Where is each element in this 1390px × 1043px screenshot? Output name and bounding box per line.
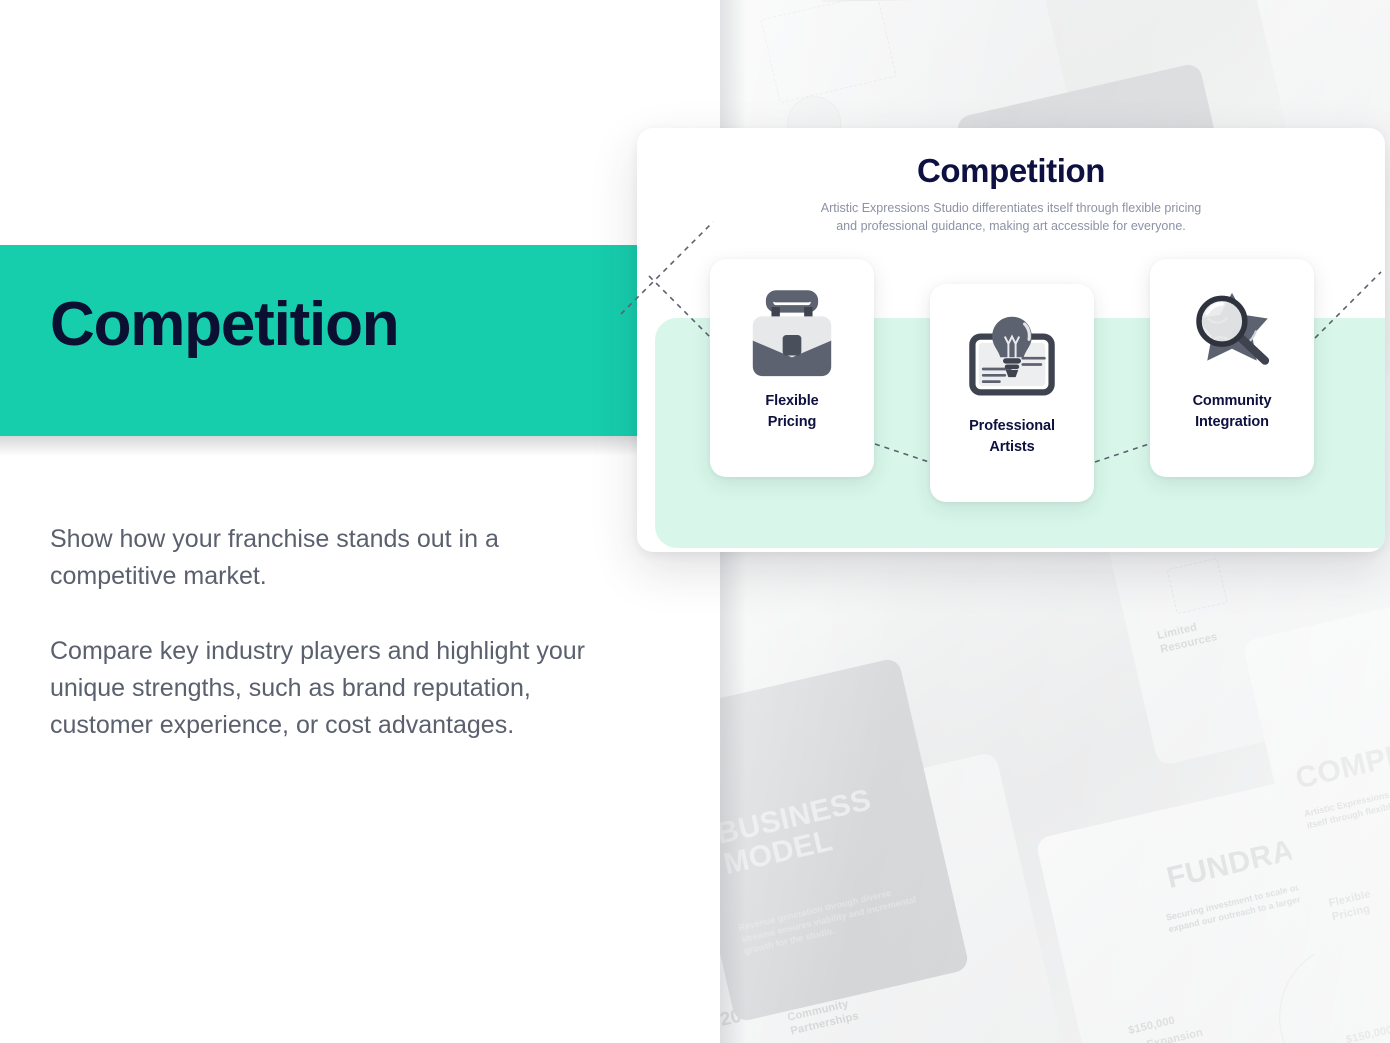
deck-slide-fundraising: FUNDRAISING Securing investment to scale… bbox=[1035, 749, 1390, 1043]
slide-preview-card[interactable]: Competition Artistic Expressions Studio … bbox=[637, 128, 1385, 552]
deck-metric-label: Monthly Visitors bbox=[844, 842, 933, 874]
feature-label-line1: Community bbox=[1193, 393, 1272, 409]
feature-label-line2: Artists bbox=[989, 439, 1034, 455]
section-description: Show how your franchise stands out in a … bbox=[50, 521, 625, 744]
deck-slide-business-model-lower: BUSINESS MODEL Revenue generation throug… bbox=[717, 657, 970, 1023]
deck-slide-metrics: 1,000 Monthly Visitors 75 Workshops Held… bbox=[717, 751, 1069, 1043]
description-paragraph-1: Show how your franchise stands out in a … bbox=[50, 521, 625, 595]
deck-metric-value: $150,000 bbox=[1345, 1024, 1390, 1043]
deck-slide-title: BUSINESS MODEL bbox=[717, 778, 913, 880]
deck-slide-competition: COMPETITION Artistic Expressions Studio … bbox=[1242, 567, 1390, 982]
deck-metric-label: Space Expansion bbox=[1110, 1027, 1204, 1043]
deck-slide-subtitle: Securing investment to scale our operati… bbox=[1165, 858, 1390, 936]
description-paragraph-2: Compare key industry players and highlig… bbox=[50, 633, 625, 744]
section-banner: Competition bbox=[0, 245, 638, 436]
deck-metric-value: 1,000 bbox=[761, 848, 812, 880]
deck-slide-title: COMPETITION bbox=[1293, 715, 1390, 796]
feature-tile-community-integration[interactable]: Community Integration bbox=[1150, 259, 1314, 477]
feature-tile-professional-artists[interactable]: Professional Artists bbox=[930, 284, 1094, 502]
deck-metric-value: $150,000 bbox=[1127, 1015, 1176, 1037]
lightbulb-document-icon bbox=[953, 308, 1071, 412]
star-magnifier-icon bbox=[1173, 283, 1291, 387]
deck-slide-title: FUNDRAISING bbox=[1164, 815, 1380, 896]
feature-tile-flexible-pricing[interactable]: Flexible Pricing bbox=[710, 259, 874, 477]
deck-metric-label: Marketing Efforts bbox=[1327, 1036, 1390, 1043]
deck-label: Flexible Pricing bbox=[1327, 882, 1390, 924]
feature-label-line1: Professional bbox=[969, 418, 1055, 434]
feature-label-line2: Pricing bbox=[768, 414, 816, 430]
page-title: Competition bbox=[50, 289, 398, 360]
deck-slide-subtitle: Revenue generation through diverse strea… bbox=[737, 882, 921, 958]
feature-label-line2: Integration bbox=[1195, 414, 1269, 430]
deck-slide-subtitle: Artistic Expressions Studio differentiat… bbox=[1303, 765, 1390, 831]
deck-label: Limited Resources bbox=[1156, 610, 1246, 657]
feature-tile-label: Community Integration bbox=[1193, 391, 1272, 433]
feature-tile-label: Professional Artists bbox=[969, 416, 1055, 458]
deck-metric-label: Workshops Held bbox=[796, 927, 886, 959]
feature-label-line1: Flexible bbox=[765, 393, 818, 409]
feature-tiles: Flexible Pricing bbox=[637, 128, 1385, 552]
slide-canvas: Drop-In Fees Session Workshops Commissio… bbox=[0, 0, 1390, 1043]
deck-metric-label: Community Partnerships bbox=[786, 990, 886, 1039]
briefcase-icon bbox=[733, 283, 851, 387]
feature-tile-label: Flexible Pricing bbox=[765, 391, 818, 433]
